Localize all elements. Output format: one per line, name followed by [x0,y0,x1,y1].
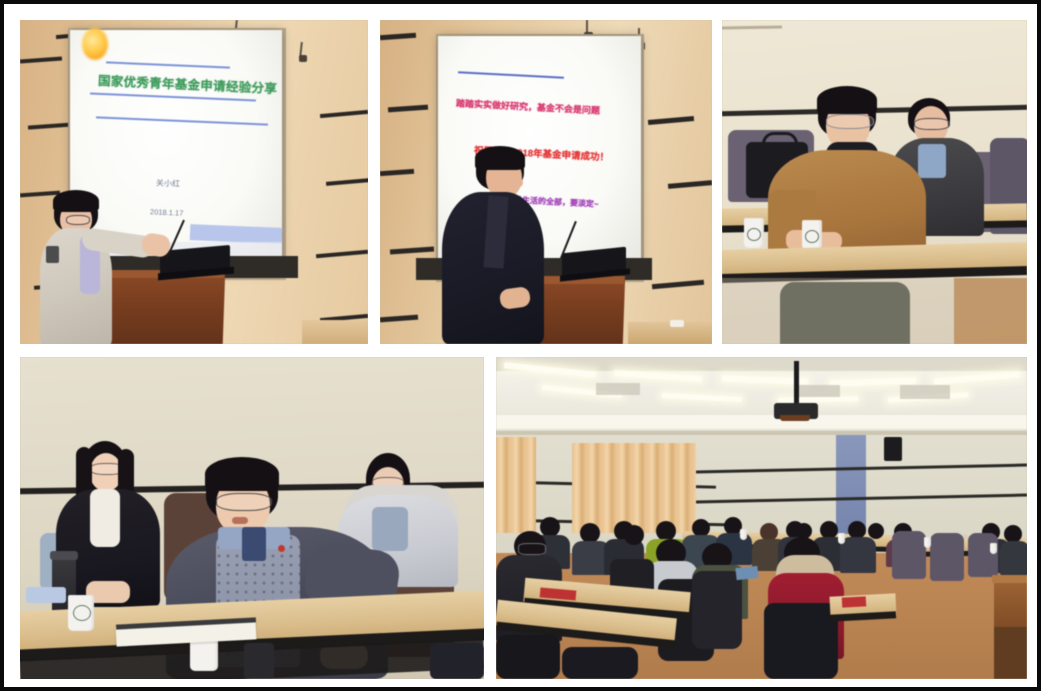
photo-collage: 国家优秀青年基金申请经验分享 关小红 2018.1.17 [0,0,1041,691]
wall-speaker-icon [884,437,902,461]
photo-lecture-female-speaker: 国家优秀青年基金申请经验分享 关小红 2018.1.17 [20,20,368,344]
collage-mat: 国家优秀青年基金申请经验分享 关小红 2018.1.17 [4,4,1037,687]
photo-audience-wide [496,357,1027,679]
photo-panel-discussion [20,357,484,679]
slide-date: 2018.1.17 [150,207,184,217]
photo-two-seated-attendees [722,20,1027,344]
photo-lecture-male-speaker: 踏踏实实做好研究，基金不会是问题 祝愿大家2018年基金申请成功！ 基金不是生活… [380,20,712,344]
slide-presenter: 关小红 [156,178,180,190]
slide-logo-icon [82,28,108,60]
